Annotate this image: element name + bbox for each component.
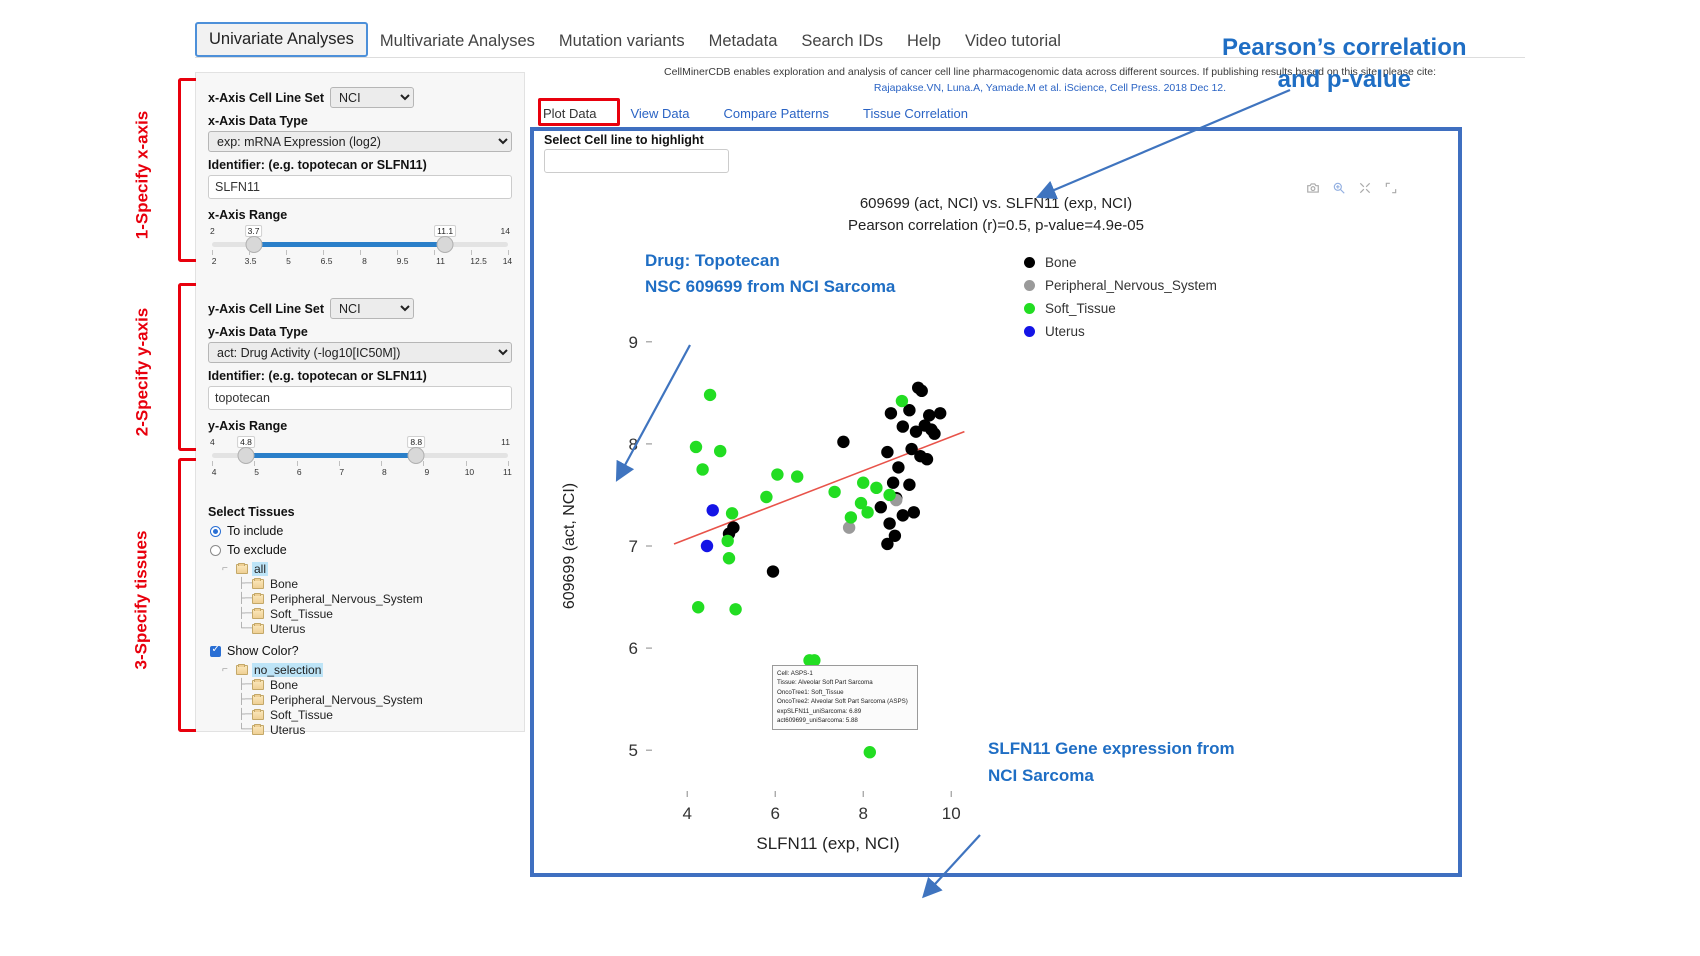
bracket-label-1: 1-Specify x-axis bbox=[132, 111, 152, 240]
folder-icon bbox=[236, 564, 248, 574]
x-range-min-end: 2 bbox=[210, 226, 215, 236]
x-tick-6: 11 bbox=[436, 256, 445, 266]
svg-text:SLFN11 (exp, NCI): SLFN11 (exp, NCI) bbox=[756, 834, 899, 853]
tooltip-line-act: act609699_uniSarcoma: 5.88 bbox=[777, 716, 913, 725]
radio-include-label: To include bbox=[227, 524, 283, 538]
bracket-specify-y-axis bbox=[178, 283, 196, 451]
y-tick-4: 8 bbox=[382, 467, 387, 477]
tree-root-no-selection-label: no_selection bbox=[252, 663, 323, 677]
tree-root-all[interactable]: ⌐ all bbox=[222, 561, 512, 576]
tree-item-uterus-label: Uterus bbox=[268, 622, 307, 636]
annotation-pearson-correlation: Pearson’s correlation and p-value bbox=[1222, 32, 1467, 97]
tree-branch-icon: ├─ bbox=[238, 608, 252, 619]
y-tick-0: 4 bbox=[212, 467, 217, 477]
y-slider-tick-labels: 4 5 6 7 8 9 10 11 bbox=[208, 467, 512, 481]
x-tick-7: 12.5 bbox=[470, 256, 487, 266]
svg-text:9: 9 bbox=[629, 333, 638, 352]
svg-text:6: 6 bbox=[770, 804, 779, 823]
tree-ex-item-uterus-label: Uterus bbox=[268, 723, 307, 737]
legend-label-uterus: Uterus bbox=[1045, 324, 1085, 339]
tree-branch-icon: ├─ bbox=[238, 709, 252, 720]
tooltip-line-cell: Cell: ASPS-1 bbox=[777, 669, 913, 678]
y-axis-data-type-label: y-Axis Data Type bbox=[208, 325, 512, 339]
legend-item-peripheral-nervous-system[interactable]: Peripheral_Nervous_System bbox=[1024, 274, 1217, 297]
svg-text:609699 (act, NCI): 609699 (act, NCI) bbox=[561, 483, 578, 609]
radio-to-include[interactable]: To include bbox=[210, 524, 512, 538]
exclude-tissue-tree[interactable]: ⌐ no_selection ├─ Bone ├─ Peripheral_Ner… bbox=[222, 662, 512, 737]
y-axis-cell-line-set-row: y-Axis Cell Line Set NCI bbox=[208, 298, 512, 319]
checkbox-icon[interactable] bbox=[210, 646, 221, 657]
plot-sub-tabs[interactable]: Plot Data View Data Compare Patterns Tis… bbox=[535, 103, 976, 124]
tab-univariate-analyses[interactable]: Univariate Analyses bbox=[195, 22, 368, 57]
x-tick-8: 14 bbox=[503, 256, 512, 266]
legend-dot-uterus bbox=[1024, 326, 1035, 337]
legend-label-bone: Bone bbox=[1045, 255, 1077, 270]
tree-branch-icon: ├─ bbox=[238, 694, 252, 705]
bracket-specify-tissues bbox=[178, 458, 196, 732]
tree-item-pns-label: Peripheral_Nervous_System bbox=[268, 592, 425, 606]
legend-item-soft-tissue[interactable]: Soft_Tissue bbox=[1024, 297, 1217, 320]
folder-icon bbox=[236, 665, 248, 675]
tree-expand-icon[interactable]: ⌐ bbox=[222, 664, 236, 675]
radio-include-icon[interactable] bbox=[210, 526, 221, 537]
x-axis-identifier-input[interactable] bbox=[208, 175, 512, 199]
tree-item-uterus[interactable]: └─ Uterus bbox=[238, 621, 512, 636]
y-tick-7: 11 bbox=[503, 467, 512, 477]
folder-icon bbox=[252, 579, 264, 589]
x-tick-1: 3.5 bbox=[245, 256, 257, 266]
tree-ex-item-bone-label: Bone bbox=[268, 678, 300, 692]
svg-text:8: 8 bbox=[858, 804, 867, 823]
y-tick-5: 9 bbox=[425, 467, 430, 477]
x-axis-identifier-label: Identifier: (e.g. topotecan or SLFN11) bbox=[208, 158, 512, 172]
radio-to-exclude[interactable]: To exclude bbox=[210, 543, 512, 557]
tab-mutation-variants[interactable]: Mutation variants bbox=[547, 26, 697, 57]
y-tick-3: 7 bbox=[339, 467, 344, 477]
legend-dot-pns bbox=[1024, 280, 1035, 291]
folder-icon bbox=[252, 725, 264, 735]
tree-item-peripheral-nervous-system[interactable]: ├─ Peripheral_Nervous_System bbox=[238, 591, 512, 606]
show-color-checkbox-row[interactable]: Show Color? bbox=[210, 644, 512, 658]
y-range-max-end: 11 bbox=[501, 437, 510, 447]
y-axis-cell-line-set-label: y-Axis Cell Line Set bbox=[208, 302, 324, 316]
point-hover-tooltip: Cell: ASPS-1 Tissue: Alveolar Soft Part … bbox=[772, 665, 918, 730]
tree-root-all-label: all bbox=[252, 562, 268, 576]
bracket-label-3: 3-Specify tissues bbox=[131, 531, 151, 670]
tree-branch-icon: ├─ bbox=[238, 593, 252, 604]
legend-dot-soft-tissue bbox=[1024, 303, 1035, 314]
tree-item-soft-tissue[interactable]: ├─ Soft_Tissue bbox=[238, 606, 512, 621]
svg-text:8: 8 bbox=[629, 435, 638, 454]
folder-icon bbox=[252, 695, 264, 705]
tooltip-line-oncotree2: OncoTree2: Alveolar Soft Part Sarcoma (A… bbox=[777, 697, 913, 706]
tree-item-soft-tissue-label: Soft_Tissue bbox=[268, 607, 335, 621]
tree-branch-icon: ├─ bbox=[238, 679, 252, 690]
tree-ex-item-peripheral-nervous-system[interactable]: ├─ Peripheral_Nervous_System bbox=[238, 692, 512, 707]
select-tissues-title: Select Tissues bbox=[208, 505, 512, 519]
tab-help[interactable]: Help bbox=[895, 26, 953, 57]
include-tissue-tree[interactable]: ⌐ all ├─ Bone ├─ Peripheral_Nervous_Syst… bbox=[222, 561, 512, 636]
svg-text:7: 7 bbox=[629, 537, 638, 556]
svg-text:6: 6 bbox=[629, 639, 638, 658]
tree-item-bone[interactable]: ├─ Bone bbox=[238, 576, 512, 591]
tree-item-bone-label: Bone bbox=[268, 577, 300, 591]
x-tick-0: 2 bbox=[212, 256, 217, 266]
tree-ex-item-pns-label: Peripheral_Nervous_System bbox=[268, 693, 425, 707]
tree-ex-item-soft-tissue-label: Soft_Tissue bbox=[268, 708, 335, 722]
y-range-min-end: 4 bbox=[210, 437, 215, 447]
subtab-plot-data[interactable]: Plot Data bbox=[535, 103, 604, 124]
x-slider-tick-labels: 2 3.5 5 6.5 8 9.5 11 12.5 14 bbox=[208, 256, 512, 270]
x-axis-data-type-select[interactable]: exp: mRNA Expression (log2) bbox=[208, 131, 512, 152]
x-axis-range-label: x-Axis Range bbox=[208, 208, 512, 222]
plot-legend[interactable]: Bone Peripheral_Nervous_System Soft_Tiss… bbox=[1024, 251, 1217, 343]
y-axis-range-label: y-Axis Range bbox=[208, 419, 512, 433]
show-color-label: Show Color? bbox=[227, 644, 299, 658]
tree-ex-item-soft-tissue[interactable]: ├─ Soft_Tissue bbox=[238, 707, 512, 722]
app-citation-link[interactable]: Rajapakse.VN, Luna.A, Yamade.M et al. iS… bbox=[874, 82, 1226, 94]
tree-branch-icon: ├─ bbox=[238, 578, 252, 589]
folder-icon bbox=[252, 624, 264, 634]
y-tick-6: 10 bbox=[465, 467, 474, 477]
x-axis-range-slider[interactable]: 2 14 3.7 11.1 2 3.5 5 6.5 8 9.5 11 12.5 … bbox=[208, 226, 512, 272]
radio-exclude-label: To exclude bbox=[227, 543, 287, 557]
legend-item-bone[interactable]: Bone bbox=[1024, 251, 1217, 274]
subtab-tissue-correlation[interactable]: Tissue Correlation bbox=[855, 103, 976, 124]
bracket-label-2: 2-Specify y-axis bbox=[132, 308, 152, 437]
bracket-specify-x-axis bbox=[178, 78, 196, 262]
x-axis-cell-line-set-label: x-Axis Cell Line Set bbox=[208, 91, 324, 105]
y-axis-identifier-label: Identifier: (e.g. topotecan or SLFN11) bbox=[208, 369, 512, 383]
legend-label-pns: Peripheral_Nervous_System bbox=[1045, 278, 1217, 293]
x-range-max-end: 14 bbox=[501, 226, 510, 236]
legend-label-soft-tissue: Soft_Tissue bbox=[1045, 301, 1116, 316]
y-tick-2: 6 bbox=[297, 467, 302, 477]
radio-exclude-icon[interactable] bbox=[210, 545, 221, 556]
x-slider-fill bbox=[254, 242, 446, 247]
folder-icon bbox=[252, 710, 264, 720]
svg-text:4: 4 bbox=[682, 804, 691, 823]
tree-branch-icon: └─ bbox=[238, 623, 252, 634]
legend-dot-bone bbox=[1024, 257, 1035, 268]
folder-icon bbox=[252, 680, 264, 690]
x-tick-3: 6.5 bbox=[321, 256, 333, 266]
y-tick-1: 5 bbox=[254, 467, 259, 477]
control-panel: x-Axis Cell Line Set NCI x-Axis Data Typ… bbox=[195, 72, 525, 732]
tab-search-ids[interactable]: Search IDs bbox=[789, 26, 895, 57]
tab-video-tutorial[interactable]: Video tutorial bbox=[953, 26, 1073, 57]
y-axis-cell-line-set-select[interactable]: NCI bbox=[330, 298, 414, 319]
svg-text:10: 10 bbox=[942, 804, 961, 823]
x-tick-4: 8 bbox=[362, 256, 367, 266]
tree-ex-item-bone[interactable]: ├─ Bone bbox=[238, 677, 512, 692]
legend-item-uterus[interactable]: Uterus bbox=[1024, 320, 1217, 343]
svg-text:5: 5 bbox=[629, 741, 638, 760]
tree-branch-icon: └─ bbox=[238, 724, 252, 735]
y-axis-data-type-select[interactable]: act: Drug Activity (-log10[IC50M]) bbox=[208, 342, 512, 363]
tree-ex-item-uterus[interactable]: └─ Uterus bbox=[238, 722, 512, 737]
annotation-slfn11-expression: SLFN11 Gene expression from NCI Sarcoma bbox=[988, 735, 1235, 789]
tooltip-line-tissue: Tissue: Alveolar Soft Part Sarcoma bbox=[777, 678, 913, 687]
y-axis-identifier-input[interactable] bbox=[208, 386, 512, 410]
x-axis-cell-line-set-row: x-Axis Cell Line Set NCI bbox=[208, 87, 512, 108]
tab-multivariate-analyses[interactable]: Multivariate Analyses bbox=[368, 26, 547, 57]
y-axis-range-slider[interactable]: 4 11 4.8 8.8 4 5 6 7 8 9 10 11 bbox=[208, 437, 512, 483]
y-slider-fill bbox=[246, 453, 416, 458]
tree-expand-icon[interactable]: ⌐ bbox=[222, 563, 236, 574]
tooltip-line-oncotree1: OncoTree1: Soft_Tissue bbox=[777, 688, 913, 697]
tree-root-no-selection[interactable]: ⌐ no_selection bbox=[222, 662, 512, 677]
folder-icon bbox=[252, 594, 264, 604]
x-axis-cell-line-set-select[interactable]: NCI bbox=[330, 87, 414, 108]
x-axis-data-type-label: x-Axis Data Type bbox=[208, 114, 512, 128]
folder-icon bbox=[252, 609, 264, 619]
subtab-view-data[interactable]: View Data bbox=[622, 103, 697, 124]
tab-metadata[interactable]: Metadata bbox=[697, 26, 790, 57]
tooltip-line-exp: expSLFN11_uniSarcoma: 6.89 bbox=[777, 707, 913, 716]
x-tick-5: 9.5 bbox=[397, 256, 409, 266]
subtab-compare-patterns[interactable]: Compare Patterns bbox=[716, 103, 838, 124]
annotation-drug-topotecan: Drug: Topotecan NSC 609699 from NCI Sarc… bbox=[645, 248, 895, 299]
x-tick-2: 5 bbox=[286, 256, 291, 266]
